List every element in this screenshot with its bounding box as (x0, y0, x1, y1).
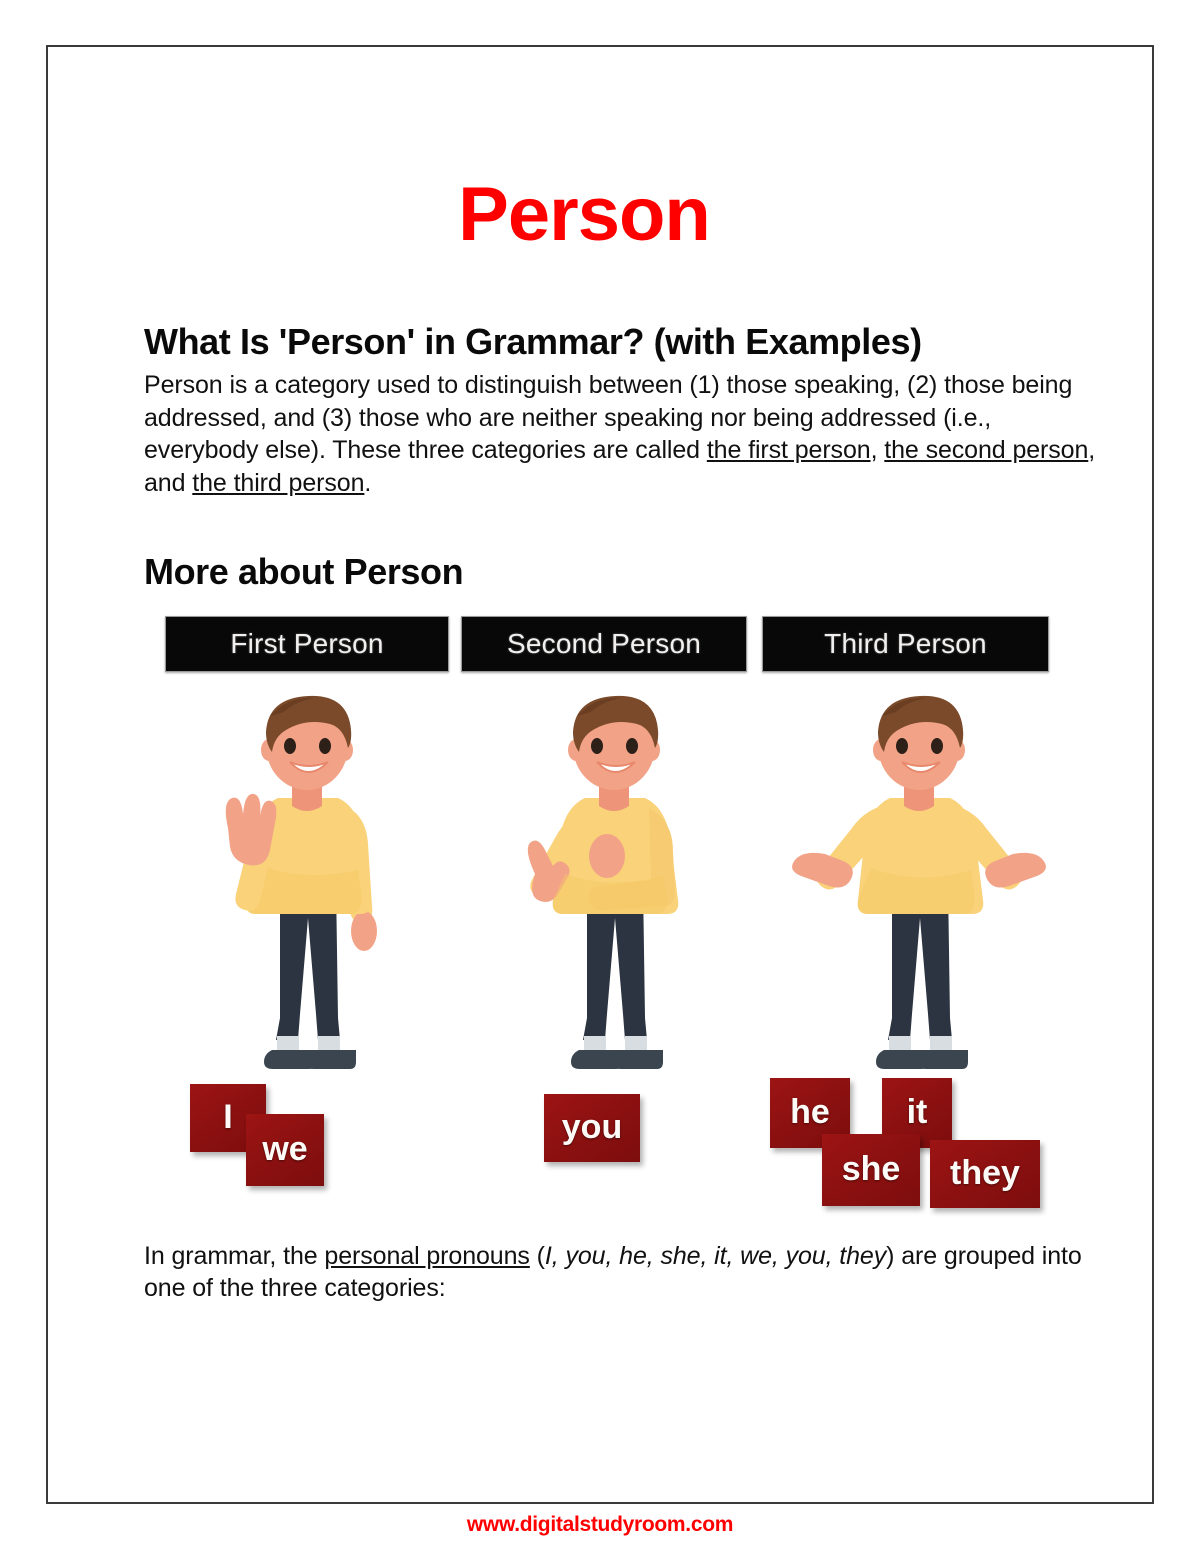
pronoun-card-they: they (930, 1140, 1040, 1208)
label-third-person: Third Person (824, 628, 987, 660)
waving-person-illustration (192, 688, 422, 1078)
label-bar-second-person: Second Person (461, 616, 747, 672)
page-border: Person What Is 'Person' in Grammar? (wit… (46, 45, 1154, 1504)
link-third-person: the third person (192, 469, 364, 497)
intro-paragraph: Person is a category used to distinguish… (144, 369, 1104, 499)
pointing-person-illustration (499, 688, 729, 1078)
link-personal-pronouns: personal pronouns (324, 1242, 529, 1270)
pronoun-label-they: they (950, 1154, 1020, 1193)
pronoun-label-she: she (842, 1150, 901, 1189)
document-content: Person What Is 'Person' in Grammar? (wit… (144, 177, 1104, 1305)
closing-open-paren: ( (530, 1242, 545, 1270)
link-second-person: the second person (884, 436, 1088, 464)
section-heading-what-is-person: What Is 'Person' in Grammar? (with Examp… (144, 321, 924, 363)
intro-text-4: . (364, 469, 371, 497)
closing-paragraph: In grammar, the personal pronouns (I, yo… (144, 1240, 1104, 1305)
pronoun-card-she: she (822, 1134, 920, 1206)
pronoun-label-you: you (562, 1108, 622, 1147)
closing-pronoun-list: I, you, he, she, it, we, you, they (545, 1242, 886, 1270)
arms-open-person-illustration (789, 688, 1019, 1078)
pronoun-card-you: you (544, 1094, 640, 1162)
link-first-person: the first person (707, 436, 871, 464)
pronoun-label-i: I (223, 1098, 232, 1137)
pronoun-label-he: he (790, 1093, 830, 1132)
closing-lead: In grammar, the (144, 1242, 324, 1270)
label-second-person: Second Person (507, 628, 701, 660)
pronoun-label-we: we (262, 1130, 307, 1169)
intro-text-2: , (871, 436, 885, 464)
pronoun-label-it: it (907, 1093, 928, 1132)
label-bar-third-person: Third Person (762, 616, 1049, 672)
person-categories-diagram: First Person Second Person Third Person (144, 616, 1104, 1236)
label-first-person: First Person (230, 628, 383, 660)
page-title: Person (144, 177, 1104, 253)
footer: www.digitalstudyroom.com (0, 1513, 1200, 1537)
label-bar-first-person: First Person (165, 616, 449, 672)
pronoun-card-we: we (246, 1114, 324, 1186)
footer-website-url: www.digitalstudyroom.com (467, 1513, 733, 1536)
section-heading-more-about-person: More about Person (144, 551, 1104, 593)
